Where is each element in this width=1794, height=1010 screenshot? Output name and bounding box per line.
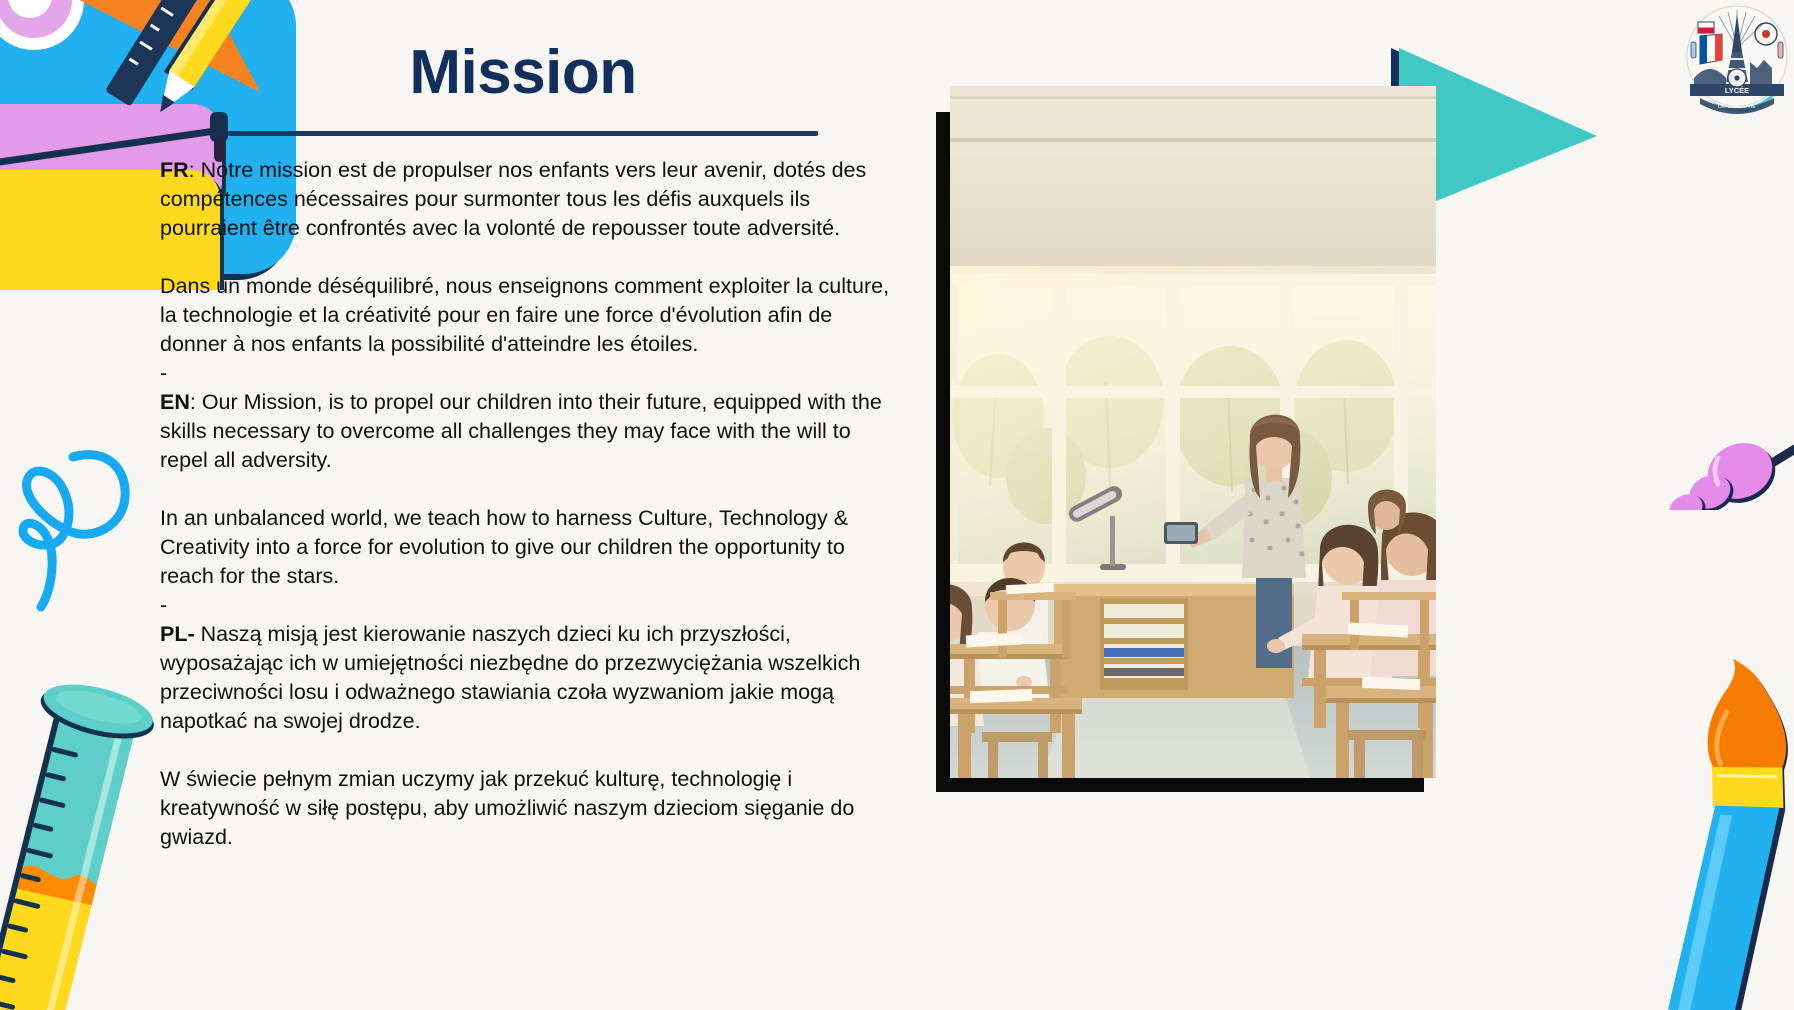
classroom-photo-frame (936, 86, 1436, 792)
en-paragraph-1-text: : Our Mission, is to propel our children… (160, 390, 882, 472)
title-block: Mission (228, 40, 818, 136)
page-title: Mission (228, 40, 818, 105)
school-logo: LYCÉE DE CRACOVIE (1684, 2, 1790, 119)
en-paragraph-2: In an unbalanced world, we teach how to … (160, 504, 890, 591)
paragraph-spacer (160, 475, 890, 504)
paragraph-spacer (160, 736, 890, 765)
fr-paragraph-1-text: : Notre mission est de propulser nos enf… (160, 158, 866, 240)
fr-paragraph-1: FR: Notre mission est de propulser nos e… (160, 156, 890, 243)
graduated-cylinder-icon (0, 650, 170, 1010)
en-paragraph-1: EN: Our Mission, is to propel our childr… (160, 388, 890, 475)
pushpin-icon (1660, 370, 1794, 515)
classroom-photo (950, 86, 1436, 778)
pl-label: PL- (160, 622, 195, 646)
pl-paragraph-1: PL- Naszą misją jest kierowanie naszych … (160, 620, 890, 736)
fr-label: FR (160, 158, 189, 182)
presentation-slide: LYCÉE DE CRACOVIE (0, 0, 1794, 1010)
paragraph-spacer (160, 243, 890, 272)
separator-1: - (160, 359, 890, 388)
fr-paragraph-2: Dans un monde déséquilibré, nous enseign… (160, 272, 890, 359)
pl-paragraph-2: W świecie pełnym zmian uczymy jak przeku… (160, 765, 890, 852)
squiggle-doodle-icon (5, 385, 145, 640)
paintbrush-icon (1660, 585, 1794, 1010)
separator-2: - (160, 591, 890, 620)
pl-paragraph-1-text: Naszą misją jest kierowanie naszych dzie… (160, 622, 860, 733)
en-label: EN (160, 390, 190, 414)
title-divider (228, 131, 818, 136)
logo-line-3: DE CRACOVIE (1718, 104, 1756, 110)
mission-text-block: FR: Notre mission est de propulser nos e… (160, 156, 890, 852)
